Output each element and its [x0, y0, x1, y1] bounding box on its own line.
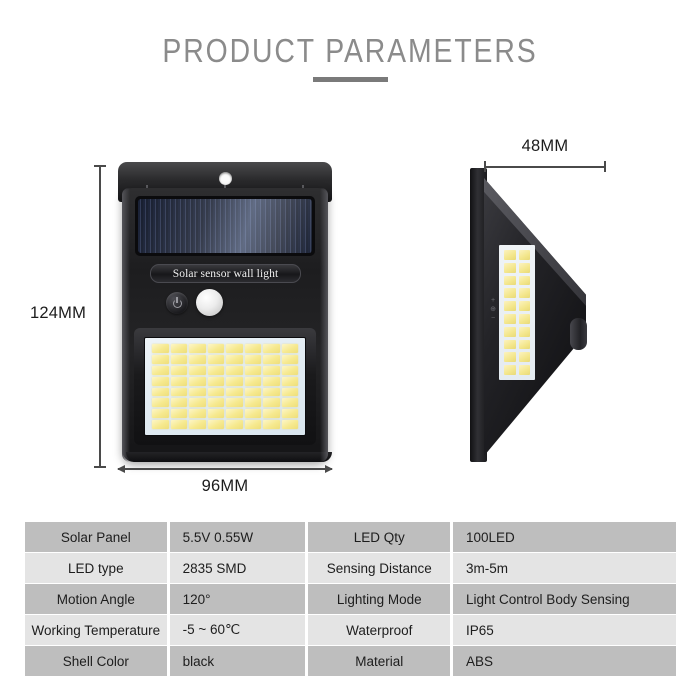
polarity-marks-icon: +⊕− — [488, 296, 498, 323]
led-dot — [171, 420, 188, 429]
led-dot — [519, 276, 531, 286]
led-dot — [519, 327, 531, 337]
led-dot — [263, 355, 280, 364]
led-array-side — [499, 245, 535, 380]
led-dot — [245, 409, 262, 418]
depth-dimension-line — [484, 166, 606, 168]
led-dot — [226, 420, 243, 429]
spec-value-cell: black — [170, 646, 306, 676]
brand-badge-label: Solar sensor wall light — [173, 268, 278, 280]
led-dot — [519, 263, 531, 273]
led-dot — [504, 340, 516, 350]
lamp-housing: Solar sensor wall light — [122, 188, 328, 462]
led-dot — [226, 409, 243, 418]
led-dot — [263, 388, 280, 397]
spec-value-cell: 120° — [170, 584, 306, 614]
solar-panel — [135, 196, 315, 256]
power-button[interactable] — [166, 292, 188, 314]
spec-value-cell: -5 ~ 60℃ — [170, 615, 306, 645]
led-dot — [245, 388, 262, 397]
led-dot — [208, 366, 225, 375]
led-dot — [226, 388, 243, 397]
led-dot — [263, 409, 280, 418]
lamp-front-view-image: Solar sensor wall light — [118, 162, 332, 462]
led-dot — [189, 388, 206, 397]
led-dot — [189, 344, 206, 353]
product-diagram-area: Solar sensor wall light +⊕− 124MM 96MM 4… — [0, 110, 700, 510]
spec-value-cell: ABS — [453, 646, 676, 676]
height-dimension-line — [99, 165, 101, 468]
led-dot — [152, 420, 169, 429]
led-dot — [208, 388, 225, 397]
led-dot — [282, 366, 299, 375]
table-row: Solar Panel5.5V 0.55WLED Qty100LED — [25, 522, 676, 552]
spec-label-cell: Lighting Mode — [308, 584, 450, 614]
led-dot — [282, 344, 299, 353]
led-dot — [519, 340, 531, 350]
spec-value-cell: 100LED — [453, 522, 676, 552]
led-dot — [504, 327, 516, 337]
led-dot — [189, 366, 206, 375]
led-dot — [152, 355, 169, 364]
brand-badge: Solar sensor wall light — [150, 264, 301, 283]
spec-value-cell: 3m-5m — [453, 553, 676, 583]
table-row: Shell ColorblackMaterialABS — [25, 646, 676, 676]
led-dot — [152, 409, 169, 418]
led-dot — [263, 366, 280, 375]
led-dot — [282, 377, 299, 386]
spec-label-cell: Solar Panel — [25, 522, 167, 552]
led-dot — [504, 288, 516, 298]
led-dot — [282, 398, 299, 407]
table-row: LED type2835 SMDSensing Distance3m-5m — [25, 553, 676, 583]
spec-value-cell: 2835 SMD — [170, 553, 306, 583]
led-dot — [208, 355, 225, 364]
led-dot — [208, 409, 225, 418]
led-dot — [226, 366, 243, 375]
led-dot — [519, 365, 531, 375]
led-dot — [263, 398, 280, 407]
spec-value-cell: IP65 — [453, 615, 676, 645]
screw-hole-icon — [219, 172, 232, 185]
spec-label-cell: Sensing Distance — [308, 553, 450, 583]
led-dot — [189, 355, 206, 364]
led-dot — [519, 301, 531, 311]
led-dot — [226, 344, 243, 353]
specifications-table: Solar Panel5.5V 0.55WLED Qty100LEDLED ty… — [25, 522, 676, 676]
led-dot — [152, 388, 169, 397]
led-dot — [282, 420, 299, 429]
motion-sensor-dome — [196, 289, 223, 316]
page-title: PRODUCT PARAMETERS — [49, 32, 651, 70]
led-dot — [171, 388, 188, 397]
led-dot — [504, 314, 516, 324]
led-dot — [263, 344, 280, 353]
led-dot — [189, 398, 206, 407]
led-dot — [152, 377, 169, 386]
width-dimension-label: 96MM — [118, 477, 332, 496]
spec-label-cell: Motion Angle — [25, 584, 167, 614]
table-row: Working Temperature-5 ~ 60℃WaterproofIP6… — [25, 615, 676, 645]
led-housing — [134, 328, 316, 445]
height-dimension-label: 124MM — [30, 304, 86, 323]
led-dot — [189, 409, 206, 418]
led-dot — [189, 420, 206, 429]
led-dot — [519, 288, 531, 298]
spec-label-cell: Shell Color — [25, 646, 167, 676]
led-dot — [245, 398, 262, 407]
spec-value-cell: 5.5V 0.55W — [170, 522, 306, 552]
width-dimension-line — [118, 468, 332, 470]
led-dot — [245, 366, 262, 375]
spec-label-cell: Material — [308, 646, 450, 676]
led-dot — [282, 355, 299, 364]
spec-label-cell: LED Qty — [308, 522, 450, 552]
led-dot — [519, 250, 531, 260]
led-dot — [208, 344, 225, 353]
led-dot — [208, 377, 225, 386]
led-array — [144, 337, 306, 436]
power-icon — [173, 299, 182, 308]
led-dot — [504, 365, 516, 375]
led-dot — [245, 344, 262, 353]
arrow-right-icon — [325, 465, 333, 473]
led-dot — [208, 420, 225, 429]
depth-dimension-label: 48MM — [484, 137, 606, 156]
lamp-side-knob — [570, 318, 587, 350]
led-dot — [171, 344, 188, 353]
led-dot — [226, 377, 243, 386]
led-dot — [504, 276, 516, 286]
led-dot — [171, 377, 188, 386]
led-dot — [504, 301, 516, 311]
led-dot — [245, 377, 262, 386]
solar-cell-grid — [138, 199, 312, 253]
led-dot — [152, 344, 169, 353]
spec-value-cell: Light Control Body Sensing — [453, 584, 676, 614]
spec-label-cell: Waterproof — [308, 615, 450, 645]
led-dot — [171, 366, 188, 375]
led-dot — [504, 352, 516, 362]
led-dot — [282, 409, 299, 418]
led-dot — [171, 409, 188, 418]
spec-label-cell: Working Temperature — [25, 615, 167, 645]
table-row: Motion Angle120°Lighting ModeLight Contr… — [25, 584, 676, 614]
led-dot — [282, 388, 299, 397]
lamp-bottom-lip — [126, 452, 332, 462]
led-dot — [519, 314, 531, 324]
led-dot — [504, 263, 516, 273]
led-dot — [208, 398, 225, 407]
led-dot — [152, 366, 169, 375]
led-dot — [171, 398, 188, 407]
led-dot — [519, 352, 531, 362]
title-underline-rule — [313, 77, 388, 82]
led-dot — [171, 355, 188, 364]
led-dot — [263, 420, 280, 429]
led-dot — [226, 355, 243, 364]
led-dot — [189, 377, 206, 386]
led-dot — [504, 250, 516, 260]
led-dot — [263, 377, 280, 386]
arrow-left-icon — [117, 465, 125, 473]
led-dot — [152, 398, 169, 407]
led-dot — [245, 420, 262, 429]
led-dot — [226, 398, 243, 407]
spec-label-cell: LED type — [25, 553, 167, 583]
led-dot — [245, 355, 262, 364]
lamp-side-view-image: +⊕− — [470, 168, 590, 462]
